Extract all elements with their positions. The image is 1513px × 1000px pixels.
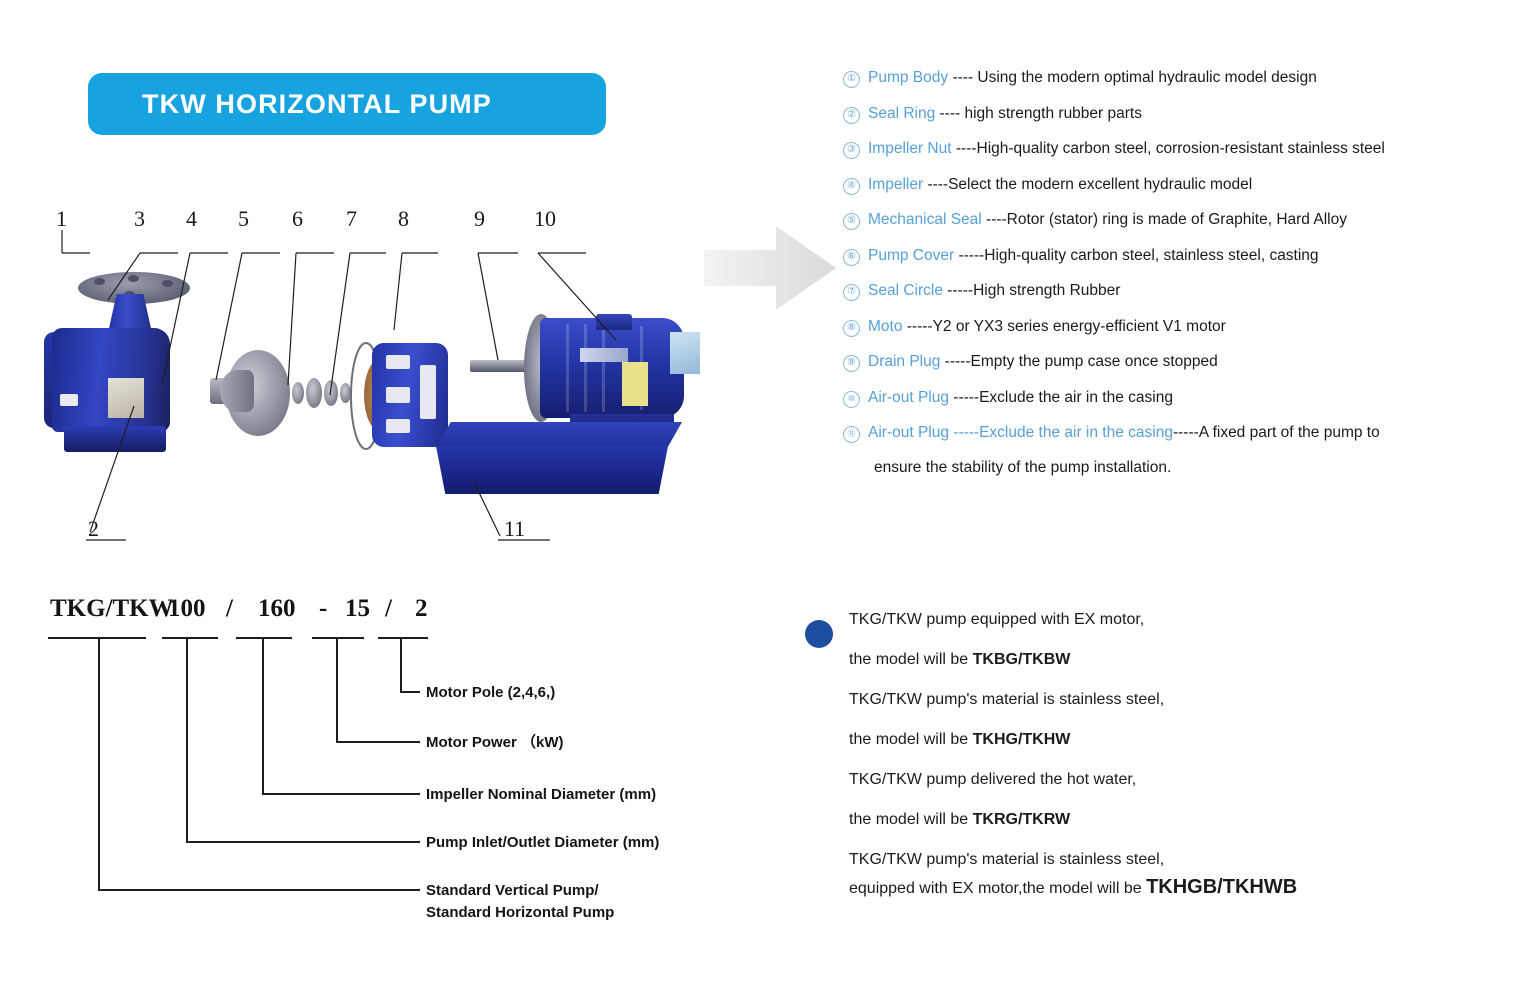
legend-item-10: ⑩ Air-out Plug -----Exclude the air in t… xyxy=(843,388,1503,408)
circled-number-icon: ⑪ xyxy=(843,426,860,443)
legend-item-text: Seal Circle -----High strength Rubber xyxy=(868,281,1120,300)
legend-item-6: ⑥ Pump Cover -----High-quality carbon st… xyxy=(843,246,1503,266)
legend-part-name: Air-out Plug xyxy=(868,424,949,441)
code-separator-slash-2: / xyxy=(385,595,392,623)
note-model-name: TKHG/TKHW xyxy=(973,731,1071,748)
label-inlet-dia: Pump Inlet/Outlet Diameter (mm) xyxy=(426,832,659,854)
circled-number-icon: ⑩ xyxy=(843,391,860,408)
pump-foot xyxy=(64,426,166,452)
callout-number-4: 4 xyxy=(186,206,197,232)
callout-number-5: 5 xyxy=(238,206,249,232)
flange-hole-icon xyxy=(162,280,173,287)
leader-hline-power xyxy=(336,741,420,743)
title-banner: TKW HORIZONTAL PUMP xyxy=(88,73,606,135)
callout-number-10: 10 xyxy=(534,206,556,232)
note-text: TKG/TKW pump's material is stainless ste… xyxy=(849,851,1164,868)
label-pump-type-2: Standard Horizontal Pump xyxy=(426,902,614,924)
leader-hline-inlet xyxy=(186,841,420,843)
note-text: the model will be xyxy=(849,811,973,828)
leader-vline-impeller xyxy=(262,637,264,795)
note-text: equipped with EX motor,the model will be xyxy=(849,880,1146,897)
note-text: TKG/TKW pump's material is stainless ste… xyxy=(849,691,1164,708)
label-pump-type-1: Standard Vertical Pump/ xyxy=(426,880,599,902)
cover-window xyxy=(386,419,410,433)
code-segment-power: 15 xyxy=(345,595,370,623)
code-underline-series xyxy=(48,637,146,639)
legend-item-7: ⑦ Seal Circle -----High strength Rubber xyxy=(843,281,1503,301)
note-text: TKG/TKW pump equipped with EX motor, xyxy=(849,611,1144,628)
legend-part-name: Air-out Plug xyxy=(868,389,949,406)
motor-housing xyxy=(540,318,684,418)
model-variant-notes: TKG/TKW pump equipped with EX motor, the… xyxy=(805,612,1445,921)
legend-part-name: Pump Body xyxy=(868,69,948,86)
legend-part-desc: ----High-quality carbon steel, corrosion… xyxy=(952,140,1385,157)
legend-part-name: Drain Plug xyxy=(868,353,940,370)
notes-body: TKG/TKW pump equipped with EX motor, the… xyxy=(849,612,1445,897)
note-line-7: TKG/TKW pump's material is stainless ste… xyxy=(849,852,1445,868)
impeller-hub-cone xyxy=(220,370,254,412)
label-motor-power: Motor Power （kW) xyxy=(426,732,564,754)
note-line-4: the model will be TKHG/TKHW xyxy=(849,732,1445,748)
motor-cooling-fin xyxy=(602,324,605,412)
leader-hline-impeller xyxy=(262,793,420,795)
legend-part-name: Mechanical Seal xyxy=(868,211,982,228)
motor-brand-label xyxy=(580,348,628,362)
legend-item-8: ⑧ Moto -----Y2 or YX3 series energy-effi… xyxy=(843,317,1503,337)
leader-vline-inlet xyxy=(186,637,188,843)
legend-part-desc: ---- high strength rubber parts xyxy=(935,105,1142,122)
legend-part-desc: -----A fixed part of the pump to xyxy=(1173,424,1380,441)
callout-number-2: 2 xyxy=(88,516,99,542)
legend-item-2: ② Seal Ring ---- high strength rubber pa… xyxy=(843,104,1503,124)
poster-page: TKW HORIZONTAL PUMP xyxy=(0,0,1513,1000)
flange-hole-icon xyxy=(128,275,139,282)
motor-shaft xyxy=(470,360,532,372)
code-separator-dash: - xyxy=(319,595,327,623)
legend-item-9: ⑨ Drain Plug -----Empty the pump case on… xyxy=(843,352,1503,372)
cover-window xyxy=(420,365,436,419)
note-text: the model will be xyxy=(849,651,973,668)
cover-window xyxy=(386,387,410,403)
pump-cover-body xyxy=(372,343,448,447)
legend-item-text: Air-out Plug -----Exclude the air in the… xyxy=(868,388,1173,407)
circled-number-icon: ① xyxy=(843,71,860,88)
cover-window xyxy=(386,355,410,369)
leader-vline-pole xyxy=(400,637,402,693)
legend-item-5: ⑤ Mechanical Seal ----Rotor (stator) rin… xyxy=(843,210,1503,230)
note-model-name: TKHGB/TKHWB xyxy=(1146,876,1297,898)
seal-ring-icon xyxy=(292,382,304,404)
model-code-breakdown: TKG/TKW 100 / 160 - 15 / 2 Motor Pole (2… xyxy=(30,595,730,975)
code-separator-slash-1: / xyxy=(226,595,233,623)
page-title: TKW HORIZONTAL PUMP xyxy=(142,89,492,120)
legend-item-text: Mechanical Seal ----Rotor (stator) ring … xyxy=(868,210,1347,229)
callout-number-1: 1 xyxy=(56,206,67,232)
legend-item-11-second-line: ensure the stability of the pump install… xyxy=(874,459,1503,477)
code-segment-inlet: 100 xyxy=(168,595,206,623)
circled-number-icon: ⑦ xyxy=(843,284,860,301)
legend-item-1: ① Pump Body ---- Using the modern optima… xyxy=(843,68,1503,88)
legend-item-3: ③ Impeller Nut ----High-quality carbon s… xyxy=(843,139,1503,159)
code-segment-series: TKG/TKW xyxy=(50,595,174,623)
legend-part-desc: ----Rotor (stator) ring is made of Graph… xyxy=(982,211,1347,228)
callout-number-7: 7 xyxy=(346,206,357,232)
pump-nameplate xyxy=(108,378,144,418)
label-motor-pole: Motor Pole (2,4,6,) xyxy=(426,682,555,704)
legend-part-name: Impeller Nut xyxy=(868,140,952,157)
callout-number-8: 8 xyxy=(398,206,409,232)
legend-part-name: Seal Ring xyxy=(868,105,935,122)
legend-part-desc: -----Y2 or YX3 series energy-efficient V… xyxy=(902,318,1225,335)
label-impeller-dia: Impeller Nominal Diameter (mm) xyxy=(426,784,656,806)
callout-number-3: 3 xyxy=(134,206,145,232)
circled-number-icon: ③ xyxy=(843,142,860,159)
exploded-pump-diagram: 1 3 4 5 6 7 8 9 10 2 11 xyxy=(30,210,730,560)
note-line-2: the model will be TKBG/TKBW xyxy=(849,652,1445,668)
legend-item-text: Pump Cover -----High-quality carbon stee… xyxy=(868,246,1319,265)
code-underline-power xyxy=(312,637,364,639)
circled-number-icon: ⑥ xyxy=(843,249,860,266)
legend-part-name: Seal Circle xyxy=(868,282,943,299)
base-plate-front xyxy=(436,446,668,494)
motor-cooling-fin xyxy=(584,324,587,412)
legend-part-desc: ---- Using the modern optimal hydraulic … xyxy=(948,69,1317,86)
flange-hole-icon xyxy=(94,278,105,285)
seal-ring-icon xyxy=(306,378,322,408)
circled-number-icon: ⑨ xyxy=(843,355,860,372)
legend-item-text: Moto -----Y2 or YX3 series energy-effici… xyxy=(868,317,1226,336)
parts-legend-list: ① Pump Body ---- Using the modern optima… xyxy=(843,68,1503,477)
code-segment-impeller: 160 xyxy=(258,595,296,623)
note-line-5: TKG/TKW pump delivered the hot water, xyxy=(849,772,1445,788)
leader-hline-series xyxy=(98,889,420,891)
code-underline-inlet xyxy=(162,637,218,639)
note-line-8: equipped with EX motor,the model will be… xyxy=(849,877,1445,897)
note-model-name: TKBG/TKBW xyxy=(973,651,1071,668)
code-segment-pole: 2 xyxy=(415,595,428,623)
legend-part-desc: -----High strength Rubber xyxy=(943,282,1120,299)
leader-hline-pole xyxy=(400,691,420,693)
leader-vline-power xyxy=(336,637,338,743)
pump-drain-notch xyxy=(60,394,78,406)
legend-item-text: Pump Body ---- Using the modern optimal … xyxy=(868,68,1317,87)
legend-part-desc: -----High-quality carbon steel, stainles… xyxy=(954,247,1318,264)
circled-number-icon: ⑧ xyxy=(843,320,860,337)
note-text: TKG/TKW pump delivered the hot water, xyxy=(849,771,1136,788)
motor-nameplate xyxy=(670,332,700,374)
motor-terminal-box xyxy=(596,314,632,330)
right-arrow-icon xyxy=(700,218,840,318)
legend-item-text: Impeller Nut ----High-quality carbon ste… xyxy=(868,139,1385,158)
legend-part-desc: ----Select the modern excellent hydrauli… xyxy=(923,176,1252,193)
note-text: the model will be xyxy=(849,731,973,748)
legend-part-desc: -----Exclude the air in the casing xyxy=(949,389,1173,406)
seal-ring-icon xyxy=(324,380,338,406)
callout-number-9: 9 xyxy=(474,206,485,232)
legend-item-text: Air-out Plug -----Exclude the air in the… xyxy=(868,423,1380,442)
leader-vline-series xyxy=(98,637,100,891)
circled-number-icon: ② xyxy=(843,107,860,124)
callout-number-6: 6 xyxy=(292,206,303,232)
code-underline-pole xyxy=(378,637,428,639)
callout-number-11: 11 xyxy=(504,516,525,542)
motor-warning-label xyxy=(622,362,648,406)
legend-part-name: Pump Cover xyxy=(868,247,954,264)
note-line-3: TKG/TKW pump's material is stainless ste… xyxy=(849,692,1445,708)
legend-item-11: ⑪ Air-out Plug -----Exclude the air in t… xyxy=(843,423,1503,443)
legend-part-desc-blue: -----Exclude the air in the casing xyxy=(949,424,1173,441)
legend-item-text: Seal Ring ---- high strength rubber part… xyxy=(868,104,1142,123)
legend-item-4: ④ Impeller ----Select the modern excelle… xyxy=(843,175,1503,195)
circled-number-icon: ④ xyxy=(843,178,860,195)
base-plate-top xyxy=(436,422,682,448)
note-line-6: the model will be TKRG/TKRW xyxy=(849,812,1445,828)
code-underline-impeller xyxy=(236,637,292,639)
bullet-point-icon xyxy=(805,620,833,648)
legend-item-text: Impeller ----Select the modern excellent… xyxy=(868,175,1252,194)
legend-part-name: Impeller xyxy=(868,176,923,193)
note-line-1: TKG/TKW pump equipped with EX motor, xyxy=(849,612,1445,628)
circled-number-icon: ⑤ xyxy=(843,213,860,230)
motor-cooling-fin xyxy=(566,324,569,412)
legend-part-desc: -----Empty the pump case once stopped xyxy=(940,353,1217,370)
legend-item-text: Drain Plug -----Empty the pump case once… xyxy=(868,352,1218,371)
legend-part-name: Moto xyxy=(868,318,902,335)
note-model-name: TKRG/TKRW xyxy=(973,811,1070,828)
